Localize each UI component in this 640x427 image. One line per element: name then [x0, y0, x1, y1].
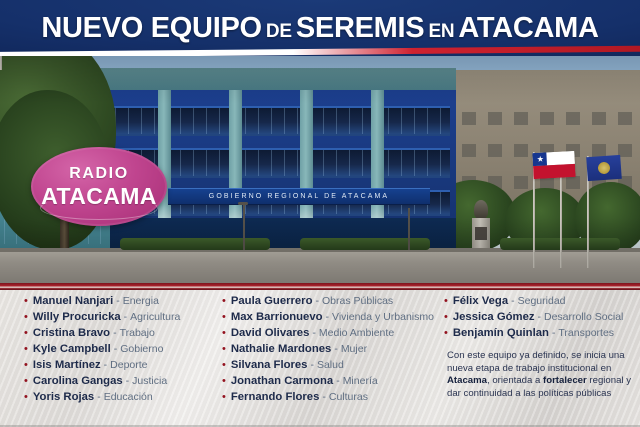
person-role: Desarrollo Social	[544, 311, 623, 323]
bullet-icon: •	[24, 325, 28, 341]
person-name: Jonathan Carmona	[231, 375, 333, 387]
bullet-icon: •	[24, 373, 28, 389]
bullet-icon: •	[24, 389, 28, 405]
bullet-icon: •	[222, 373, 226, 389]
person-name: Paula Guerrero	[231, 295, 313, 307]
person-role: Salud	[317, 359, 344, 371]
separator-dash: -	[334, 343, 338, 355]
person-role: Justicia	[132, 375, 167, 387]
page-title: NUEVO EQUIPO DE SEREMIS EN ATACAMA	[0, 12, 640, 45]
separator-dash: -	[126, 375, 130, 387]
person-name: Carolina Gangas	[33, 375, 123, 387]
separator-dash: -	[104, 359, 108, 371]
person-role: Gobierno	[120, 343, 163, 355]
separator-dash: -	[336, 375, 340, 387]
bullet-icon: •	[222, 325, 226, 341]
list-item: •Isis Martínez-Deporte	[24, 357, 216, 373]
red-divider	[0, 283, 640, 290]
separator-dash: -	[114, 343, 118, 355]
logo-line-2: ATACAMA	[31, 183, 167, 210]
separator-dash: -	[511, 295, 515, 307]
list-item: •Willy Procuricka-Agricultura	[24, 309, 216, 325]
person-name: Yoris Rojas	[33, 391, 94, 403]
title-part-2: DE	[266, 21, 292, 42]
title-part-1: NUEVO EQUIPO	[41, 12, 261, 44]
separator-dash: -	[116, 295, 120, 307]
list-item: •Nathalie Mardones-Mujer	[222, 341, 426, 357]
list-item: •Manuel Nanjari-Energia	[24, 293, 216, 309]
closing-statement: Con este equipo ya definido, se inicia u…	[444, 350, 640, 400]
person-name: Isis Martínez	[33, 359, 101, 371]
bullet-icon: •	[24, 357, 28, 373]
appointments-column-1: •Manuel Nanjari-Energia•Willy Procuricka…	[0, 290, 216, 427]
list-item: •Silvana Flores-Salud	[222, 357, 426, 373]
list-item: •Fernando Flores-Culturas	[222, 389, 426, 405]
person-name: Benjamín Quinlan	[453, 327, 549, 339]
list-item: •Cristina Bravo-Trabajo	[24, 325, 216, 341]
person-role: Energia	[123, 295, 159, 307]
title-part-5: ATACAMA	[458, 12, 598, 44]
person-name: Silvana Flores	[231, 359, 308, 371]
list-item: •Jessica Gómez-Desarrollo Social	[444, 309, 640, 325]
bullet-icon: •	[222, 341, 226, 357]
person-name: David Olivares	[231, 327, 310, 339]
closing-statement-emphasis: Atacama	[447, 375, 487, 386]
list-item: •Paula Guerrero-Obras Públicas	[222, 293, 426, 309]
separator-dash: -	[315, 295, 319, 307]
person-role: Culturas	[329, 391, 368, 403]
separator-dash: -	[552, 327, 556, 339]
bullet-icon: •	[24, 341, 28, 357]
radio-atacama-logo: RADIO ATACAMA	[31, 147, 167, 226]
title-part-3: SEREMIS	[296, 12, 424, 44]
separator-dash: -	[322, 391, 326, 403]
person-role: Vivienda y Urbanismo	[332, 311, 434, 323]
bullet-icon: •	[444, 325, 448, 341]
list-item: •Max Barrionuevo-Vivienda y Urbanismo	[222, 309, 426, 325]
separator-dash: -	[326, 311, 330, 323]
appointments-column-2: •Paula Guerrero-Obras Públicas•Max Barri…	[216, 290, 426, 427]
person-role: Deporte	[110, 359, 147, 371]
bullet-icon: •	[222, 309, 226, 325]
closing-statement-emphasis: fortalecer	[543, 375, 587, 386]
poster-graphic: NUEVO EQUIPO DE SEREMIS EN ATACAMA	[0, 0, 640, 427]
person-role: Seguridad	[518, 295, 566, 307]
bullet-icon: •	[24, 309, 28, 325]
person-role: Medio Ambiente	[319, 327, 394, 339]
list-item: •Benjamín Quinlan-Transportes	[444, 325, 640, 341]
separator-dash: -	[124, 311, 128, 323]
appointments-panel: •Manuel Nanjari-Energia•Willy Procuricka…	[0, 290, 640, 427]
person-role: Obras Públicas	[322, 295, 393, 307]
person-role: Mujer	[341, 343, 367, 355]
list-item: •Félix Vega-Seguridad	[444, 293, 640, 309]
person-name: Félix Vega	[453, 295, 508, 307]
list-item: •Kyle Campbell-Gobierno	[24, 341, 216, 357]
list-item: •David Olivares-Medio Ambiente	[222, 325, 426, 341]
bullet-icon: •	[222, 293, 226, 309]
bullet-icon: •	[222, 389, 226, 405]
person-role: Transportes	[558, 327, 614, 339]
person-name: Manuel Nanjari	[33, 295, 113, 307]
bullet-icon: •	[444, 309, 448, 325]
person-role: Minería	[343, 375, 378, 387]
closing-statement-text: Con este equipo ya definido, se inicia u…	[447, 350, 625, 374]
bullet-icon: •	[222, 357, 226, 373]
closing-statement-text: , orientada a	[487, 375, 543, 386]
logo-line-1: RADIO	[31, 165, 167, 183]
separator-dash: -	[113, 327, 117, 339]
bullet-icon: •	[444, 293, 448, 309]
list-item: •Yoris Rojas-Educación	[24, 389, 216, 405]
person-name: Kyle Campbell	[33, 343, 111, 355]
appointments-column-3: •Félix Vega-Seguridad•Jessica Gómez-Desa…	[426, 290, 640, 427]
separator-dash: -	[97, 391, 101, 403]
separator-dash: -	[538, 311, 542, 323]
person-name: Nathalie Mardones	[231, 343, 331, 355]
person-name: Cristina Bravo	[33, 327, 110, 339]
list-item: •Carolina Gangas-Justicia	[24, 373, 216, 389]
person-role: Educación	[104, 391, 153, 403]
person-name: Fernando Flores	[231, 391, 320, 403]
header-band: NUEVO EQUIPO DE SEREMIS EN ATACAMA	[0, 0, 640, 56]
person-role: Trabajo	[120, 327, 155, 339]
separator-dash: -	[310, 359, 314, 371]
list-item: •Jonathan Carmona-Minería	[222, 373, 426, 389]
separator-dash: -	[312, 327, 316, 339]
title-part-4: EN	[428, 21, 454, 42]
person-name: Willy Procuricka	[33, 311, 121, 323]
bullet-icon: •	[24, 293, 28, 309]
person-role: Agricultura	[130, 311, 180, 323]
person-name: Max Barrionuevo	[231, 311, 323, 323]
person-name: Jessica Gómez	[453, 311, 535, 323]
